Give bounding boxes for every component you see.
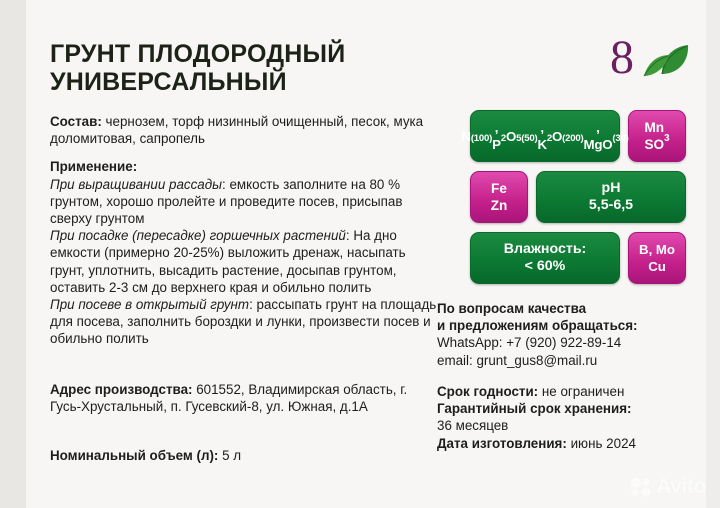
email-value[interactable]: grunt_gus8@mail.ru bbox=[473, 353, 598, 368]
left-text-column: Состав: чернозем, торф низинный очищенны… bbox=[50, 113, 438, 348]
manufacture-date-row: Дата изготовления: июнь 2024 bbox=[437, 435, 705, 452]
volume-label: Номинальный объем (л): bbox=[50, 448, 218, 463]
email-row: email: grunt_gus8@mail.ru bbox=[437, 352, 702, 369]
usage-item-3: При посеве в открытый грунт: рассыпать г… bbox=[50, 296, 438, 348]
avito-watermark: Avito bbox=[630, 475, 706, 499]
volume-value: 5 л bbox=[218, 448, 241, 463]
logo-digit: 8 bbox=[610, 34, 634, 82]
whatsapp-row: WhatsApp: +7 (920) 922-89-14 bbox=[437, 334, 702, 351]
leaf-icon bbox=[642, 40, 690, 80]
avito-watermark-text: Avito bbox=[656, 475, 706, 499]
shelf-life-label: Срок годности: bbox=[437, 384, 538, 399]
composition-value: чернозем, торф низинный очищенный, песок… bbox=[50, 114, 423, 146]
whatsapp-label: WhatsApp: bbox=[437, 335, 503, 350]
usage-item-1-lead: При выращивании рассады bbox=[50, 177, 222, 192]
product-label: 8 ГРУНТ ПЛОДОРОДНЫЙ УНИВЕРСАЛЬНЫЙ Состав… bbox=[0, 0, 720, 508]
warranty-value: 36 месяцев bbox=[437, 417, 705, 434]
contact-block: По вопросам качества и предложениям обра… bbox=[437, 300, 702, 369]
fe-zn-badge: FeZn bbox=[470, 171, 528, 223]
manufacture-date-label: Дата изготовления: bbox=[437, 436, 567, 451]
production-address: Адрес производства: 601552, Владимирская… bbox=[50, 381, 440, 415]
badge-row-3: Влажность:< 60% B, MoCu bbox=[470, 232, 695, 284]
contact-heading-line-2: и предложениям обращаться: bbox=[437, 317, 702, 334]
composition-paragraph: Состав: чернозем, торф низинный очищенны… bbox=[50, 113, 438, 147]
nutrient-badge-grid: N(100), P2O5(50),K2O(200), MgO(30) MnSO3… bbox=[470, 110, 695, 293]
shelf-life-value: не ограничен bbox=[538, 384, 624, 399]
avito-logo-icon bbox=[630, 477, 652, 497]
npk-badge: N(100), P2O5(50),K2O(200), MgO(30) bbox=[470, 110, 620, 162]
composition-label: Состав: bbox=[50, 114, 102, 129]
address-label: Адрес производства: bbox=[50, 382, 192, 397]
title-line-2: УНИВЕРСАЛЬНЫЙ bbox=[50, 68, 287, 96]
shelf-life-row: Срок годности: не ограничен bbox=[437, 383, 705, 400]
humidity-badge: Влажность:< 60% bbox=[470, 232, 620, 284]
page-title: ГРУНТ ПЛОДОРОДНЫЙ УНИВЕРСАЛЬНЫЙ bbox=[50, 40, 430, 96]
expiry-block: Срок годности: не ограничен Гарантийный … bbox=[437, 383, 705, 452]
mn-so3-badge: MnSO3 bbox=[628, 110, 686, 162]
b-mo-cu-badge: B, MoCu bbox=[628, 232, 686, 284]
usage-item-1: При выращивании рассады: емкость заполни… bbox=[50, 176, 438, 228]
nominal-volume: Номинальный объем (л): 5 л bbox=[50, 447, 241, 464]
usage-item-2: При посадке (пересадке) горшечных растен… bbox=[50, 227, 438, 296]
badge-row-2: FeZn pH5,5-6,5 bbox=[470, 171, 695, 223]
brand-logo: 8 bbox=[608, 34, 694, 86]
manufacture-date-value: июнь 2024 bbox=[567, 436, 636, 451]
warranty-label: Гарантийный срок хранения: bbox=[437, 400, 705, 417]
title-line-1: ГРУНТ ПЛОДОРОДНЫЙ bbox=[50, 40, 345, 68]
ph-badge: pH5,5-6,5 bbox=[536, 171, 686, 223]
usage-item-3-lead: При посеве в открытый грунт bbox=[50, 297, 249, 312]
badge-row-1: N(100), P2O5(50),K2O(200), MgO(30) MnSO3 bbox=[470, 110, 695, 162]
email-label: email: bbox=[437, 353, 473, 368]
usage-heading: Применение: bbox=[50, 158, 438, 175]
contact-heading-line-1: По вопросам качества bbox=[437, 300, 702, 317]
whatsapp-value[interactable]: +7 (920) 922-89-14 bbox=[503, 335, 622, 350]
usage-item-2-lead: При посадке (пересадке) горшечных растен… bbox=[50, 228, 346, 243]
